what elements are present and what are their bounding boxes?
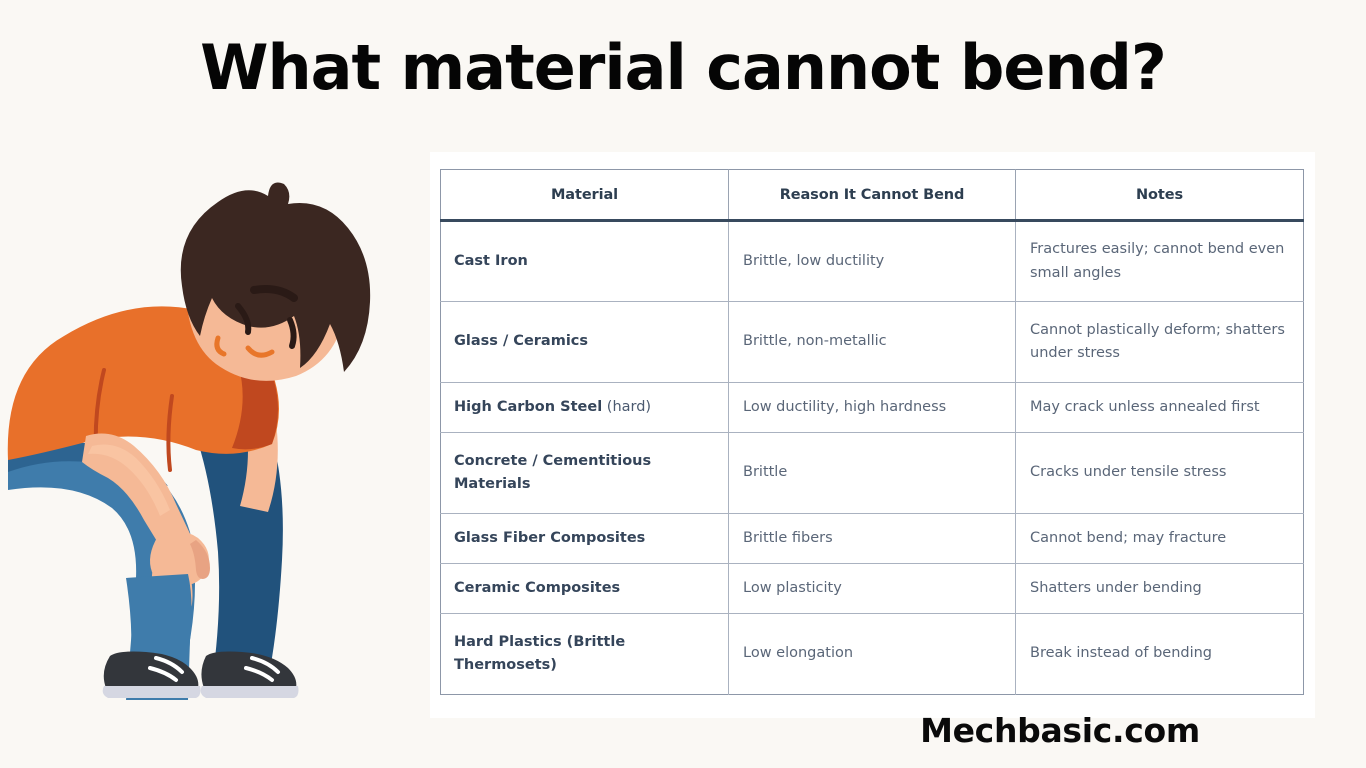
table-row: Glass Fiber Composites Brittle fibers Ca… xyxy=(441,514,1304,564)
cell-material: Glass Fiber Composites xyxy=(441,514,729,564)
cell-reason: Brittle, low ductility xyxy=(729,221,1016,302)
eye-closed-2 xyxy=(290,320,294,346)
table-body: Cast Iron Brittle, low ductility Fractur… xyxy=(441,221,1304,695)
cell-notes: Cracks under tensile stress xyxy=(1016,433,1304,514)
page-title: What material cannot bend? xyxy=(0,34,1366,102)
cell-material: Glass / Ceramics xyxy=(441,302,729,383)
boy-bending-over-illustration xyxy=(0,160,440,720)
table-row: Concrete / Cementitious Materials Brittl… xyxy=(441,433,1304,514)
cell-reason: Low elongation xyxy=(729,614,1016,695)
cell-material: Hard Plastics (Brittle Thermosets) xyxy=(441,614,729,695)
cell-notes: Fractures easily; cannot bend even small… xyxy=(1016,221,1304,302)
table-card: Material Reason It Cannot Bend Notes Cas… xyxy=(430,152,1315,718)
cell-notes: Cannot bend; may fracture xyxy=(1016,514,1304,564)
column-header-material: Material xyxy=(441,170,729,221)
cell-reason: Low plasticity xyxy=(729,564,1016,614)
table-row: High Carbon Steel (hard) Low ductility, … xyxy=(441,383,1304,433)
cell-notes: Shatters under bending xyxy=(1016,564,1304,614)
cell-reason: Brittle, non-metallic xyxy=(729,302,1016,383)
cell-reason: Low ductility, high hardness xyxy=(729,383,1016,433)
column-header-reason: Reason It Cannot Bend xyxy=(729,170,1016,221)
cell-material: Cast Iron xyxy=(441,221,729,302)
column-header-notes: Notes xyxy=(1016,170,1304,221)
table-row: Cast Iron Brittle, low ductility Fractur… xyxy=(441,221,1304,302)
cell-notes: Cannot plastically deform; shatters unde… xyxy=(1016,302,1304,383)
cell-material: Concrete / Cementitious Materials xyxy=(441,433,729,514)
materials-table: Material Reason It Cannot Bend Notes Cas… xyxy=(440,169,1304,695)
cell-reason: Brittle fibers xyxy=(729,514,1016,564)
cell-notes: Break instead of bending xyxy=(1016,614,1304,695)
table-row: Hard Plastics (Brittle Thermosets) Low e… xyxy=(441,614,1304,695)
table-row: Ceramic Composites Low plasticity Shatte… xyxy=(441,564,1304,614)
back-shoe xyxy=(201,652,299,699)
cell-notes: May crack unless annealed first xyxy=(1016,383,1304,433)
cell-material: High Carbon Steel (hard) xyxy=(441,383,729,433)
site-watermark: Mechbasic.com xyxy=(920,711,1200,750)
table-row: Glass / Ceramics Brittle, non-metallic C… xyxy=(441,302,1304,383)
cell-reason: Brittle xyxy=(729,433,1016,514)
table-header-row: Material Reason It Cannot Bend Notes xyxy=(441,170,1304,221)
cell-material: Ceramic Composites xyxy=(441,564,729,614)
